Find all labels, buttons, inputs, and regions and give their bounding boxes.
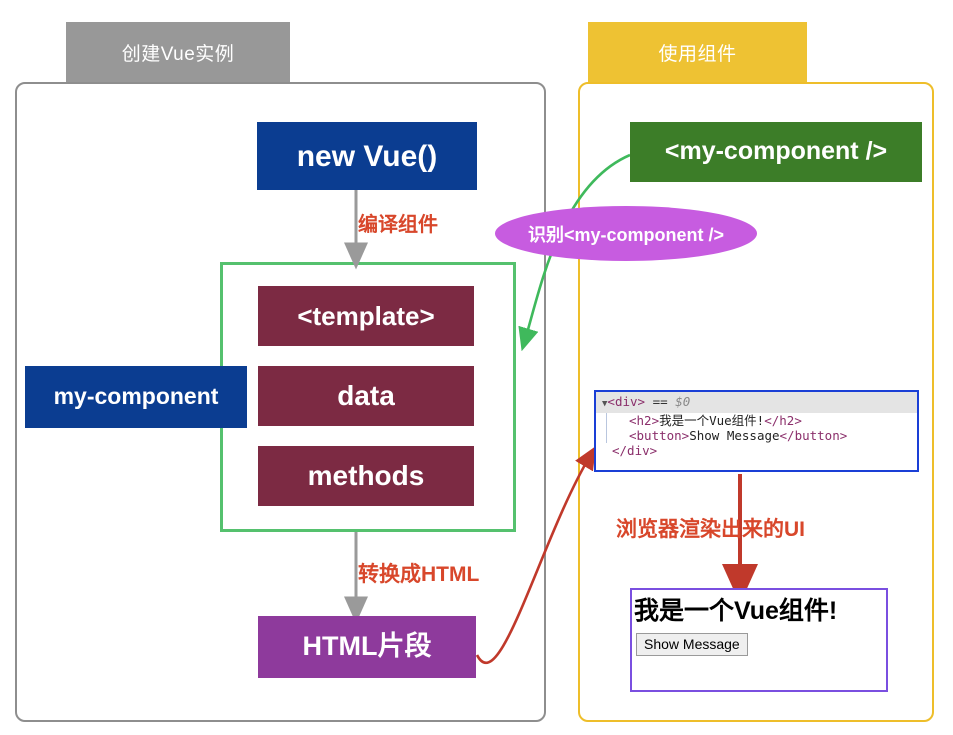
devtools-line-div-close[interactable]: </div> <box>596 443 917 458</box>
node-template-option[interactable]: <template> <box>258 286 474 346</box>
panel-right-title: 使用组件 <box>588 22 807 82</box>
edge-label-to-html: 转换成HTML <box>358 558 479 588</box>
devtools-line-h2[interactable]: <h2>我是一个Vue组件!</h2> <box>606 413 917 428</box>
panel-left-title: 创建Vue实例 <box>66 22 290 82</box>
node-data-option[interactable]: data <box>258 366 474 426</box>
devtools-code-block[interactable]: ▼<div> == $0 <h2>我是一个Vue组件!</h2> <button… <box>594 390 919 472</box>
devtools-line-div-open[interactable]: ▼<div> == $0 <box>596 392 917 413</box>
node-methods-option[interactable]: methods <box>258 446 474 506</box>
show-message-button[interactable]: Show Message <box>636 633 748 656</box>
edge-label-render-ui: 浏览器渲染出来的UI <box>616 513 805 543</box>
node-new-vue[interactable]: new Vue() <box>257 122 477 190</box>
node-my-component-tag[interactable]: <my-component /> <box>630 122 922 182</box>
diagram-canvas: 创建Vue实例 使用组件 new Vu <box>0 0 953 735</box>
callout-recognize-component: 识别<my-component /> <box>495 206 757 261</box>
node-html-fragment[interactable]: HTML片段 <box>258 616 476 678</box>
node-my-component[interactable]: my-component <box>25 366 247 428</box>
devtools-line-button[interactable]: <button>Show Message</button> <box>606 428 917 443</box>
rendered-ui-preview: 我是一个Vue组件! Show Message <box>630 588 888 692</box>
edge-label-compile: 编译组件 <box>358 208 438 237</box>
preview-heading: 我是一个Vue组件! <box>634 596 886 627</box>
